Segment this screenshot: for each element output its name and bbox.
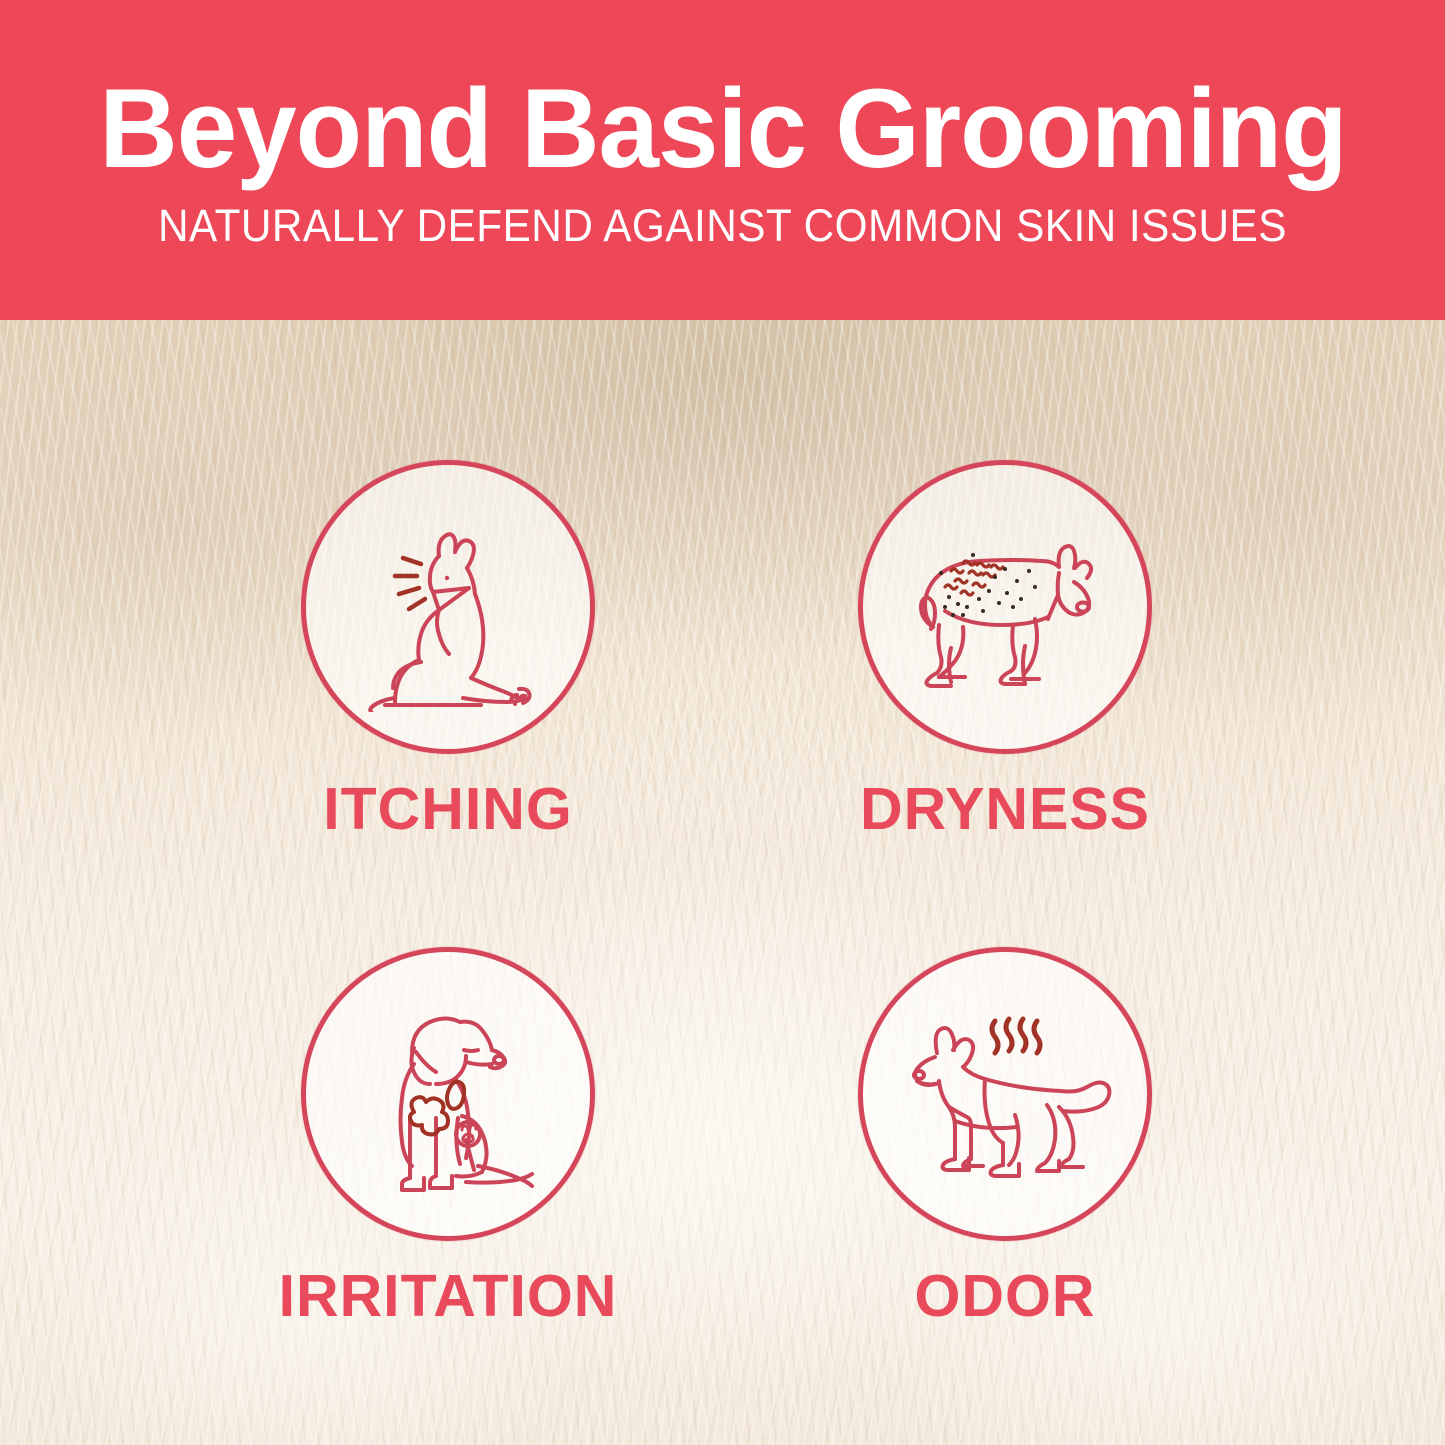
issue-circle-dryness xyxy=(858,460,1152,754)
issue-label-itching: ITCHING xyxy=(323,780,573,839)
poster-root: Beyond Basic Grooming NATURALLY DEFEND A… xyxy=(0,0,1445,1445)
issue-label-irritation: IRRITATION xyxy=(279,1267,618,1326)
issue-cell-odor: ODOR xyxy=(825,947,1185,1326)
dog-scratching-icon xyxy=(343,502,553,712)
issue-circle-itching xyxy=(301,460,595,754)
header-banner: Beyond Basic Grooming NATURALLY DEFEND A… xyxy=(0,0,1445,320)
issue-label-dryness: DRYNESS xyxy=(860,780,1150,839)
banner-title: Beyond Basic Grooming xyxy=(99,73,1346,185)
issue-label-odor: ODOR xyxy=(915,1267,1096,1326)
dog-irritated-patch-icon xyxy=(344,988,552,1200)
issue-circle-irritation xyxy=(301,947,595,1241)
issue-cell-dryness: DRYNESS xyxy=(825,460,1185,839)
issue-circle-odor xyxy=(858,947,1152,1241)
banner-subtitle: NATURALLY DEFEND AGAINST COMMON SKIN ISS… xyxy=(158,203,1287,248)
dog-flaky-skin-icon xyxy=(895,507,1115,707)
issues-grid: ITCHING xyxy=(0,320,1445,1445)
issue-cell-itching: ITCHING xyxy=(268,460,628,839)
dog-odor-icon xyxy=(891,995,1119,1193)
issue-cell-irritation: IRRITATION xyxy=(268,947,628,1326)
